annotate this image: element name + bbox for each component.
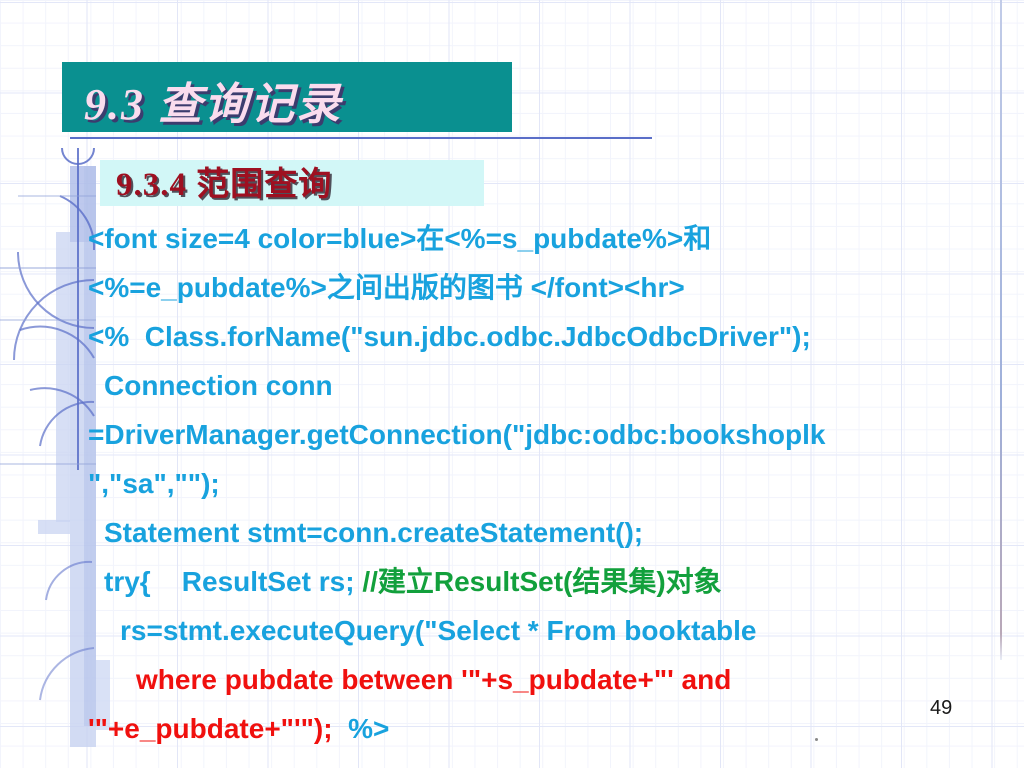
page-title: 9.3 查询记录: [84, 68, 342, 132]
subheading-box: 9.3.4 范围查询: [100, 160, 484, 206]
code-line: '"+e_pubdate+"'"); %>: [88, 704, 1024, 753]
code-segment-blue: %>: [348, 713, 389, 744]
code-segment-blue: ","sa","");: [88, 468, 220, 499]
page-number: 49: [930, 697, 952, 720]
code-line: =DriverManager.getConnection("jdbc:odbc:…: [88, 410, 1024, 459]
footer-dot: [815, 738, 818, 741]
code-segment-blue: Statement stmt=conn.createStatement();: [104, 517, 643, 548]
code-segment-blue: Connection conn: [104, 370, 333, 401]
code-line: <font size=4 color=blue>在<%=s_pubdate%>和: [88, 214, 1024, 263]
code-line: rs=stmt.executeQuery("Select * From book…: [88, 606, 1024, 655]
code-line: where pubdate between '"+s_pubdate+"' an…: [88, 655, 1024, 704]
code-line: <% Class.forName("sun.jdbc.odbc.JdbcOdbc…: [88, 312, 1024, 361]
code-segment-blue: <font size=4 color=blue>在<%=s_pubdate%>和: [88, 223, 711, 254]
code-segment-red: where pubdate between '"+s_pubdate+"' an…: [136, 664, 731, 695]
code-line: Statement stmt=conn.createStatement();: [88, 508, 1024, 557]
code-line: <%=e_pubdate%>之间出版的图书 </font><hr>: [88, 263, 1024, 312]
code-line: Connection conn: [88, 361, 1024, 410]
title-underline: [70, 137, 652, 139]
code-segment-blue: <%=e_pubdate%>之间出版的图书 </font><hr>: [88, 272, 685, 303]
code-segment-red: '"+e_pubdate+"'");: [88, 713, 348, 744]
slide-title-band: 9.3 查询记录: [62, 62, 512, 132]
code-line: try{ ResultSet rs; //建立ResultSet(结果集)对象: [88, 557, 1024, 606]
code-segment-blue: <% Class.forName("sun.jdbc.odbc.JdbcOdbc…: [88, 321, 811, 352]
code-segment-blue: try{ ResultSet rs;: [104, 566, 362, 597]
code-line: ","sa","");: [88, 459, 1024, 508]
code-segment-blue: =DriverManager.getConnection("jdbc:odbc:…: [88, 419, 825, 450]
code-segment-green: //建立ResultSet(结果集)对象: [362, 566, 721, 597]
code-block: <font size=4 color=blue>在<%=s_pubdate%>和…: [88, 214, 1024, 753]
code-segment-blue: rs=stmt.executeQuery("Select * From book…: [120, 615, 757, 646]
subheading-label: 9.3.4 范围查询: [116, 157, 332, 205]
